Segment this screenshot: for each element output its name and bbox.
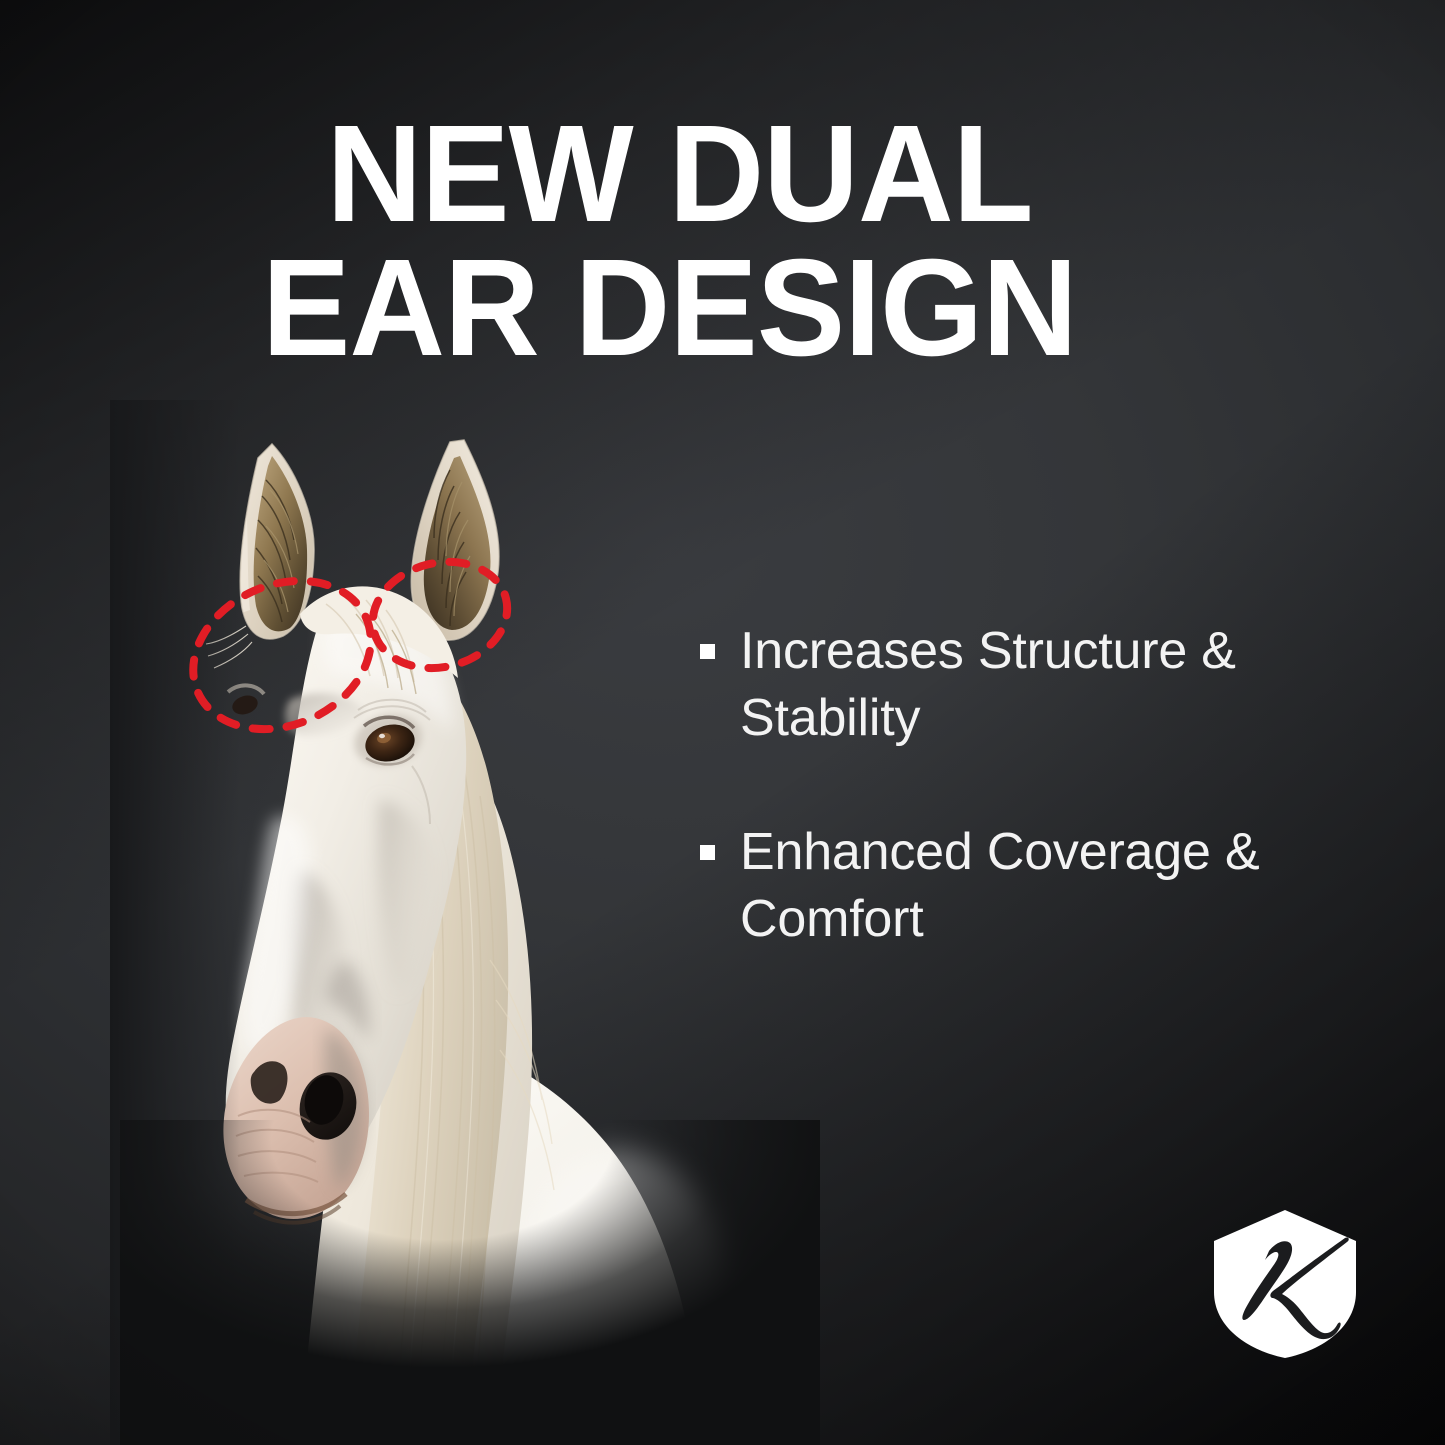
headline-line-1: NEW DUAL [262, 108, 1097, 242]
page-title: NEW DUAL EAR DESIGN [262, 108, 1184, 376]
list-item: Enhanced Coverage & Comfort [698, 819, 1358, 952]
brand-logo [1206, 1208, 1364, 1360]
headline-line-2: EAR DESIGN [262, 242, 1184, 376]
promo-graphic: NEW DUAL EAR DESIGN Increases Structure … [0, 0, 1445, 1445]
list-item-label: Increases Structure & Stability [740, 618, 1358, 751]
square-bullet-icon [700, 845, 715, 860]
square-bullet-icon [700, 644, 715, 659]
list-item-label: Enhanced Coverage & Comfort [740, 819, 1358, 952]
feature-list: Increases Structure & Stability Enhanced… [698, 618, 1358, 952]
list-item: Increases Structure & Stability [698, 618, 1358, 751]
